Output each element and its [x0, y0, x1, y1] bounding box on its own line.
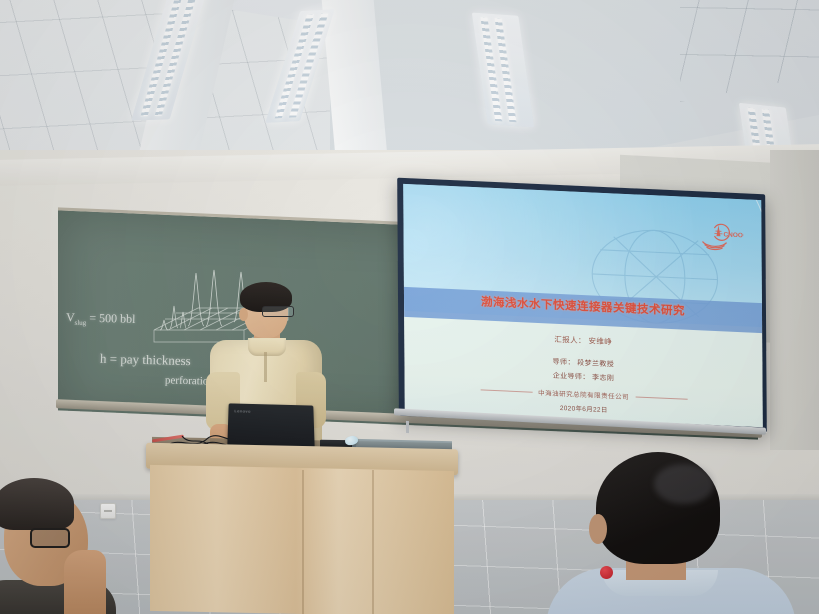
screen-pull-hook	[406, 421, 409, 433]
presenter-shirt-placket	[264, 352, 267, 382]
rule-right	[635, 396, 687, 399]
ceiling-tile-grid-right	[680, 0, 819, 102]
hair-highlight	[654, 464, 714, 504]
laptop[interactable]: Lenovo	[227, 403, 314, 449]
rule-left	[480, 389, 532, 392]
presenter-ear	[239, 308, 248, 321]
cnooc-logo-text: CNOOC	[724, 231, 744, 239]
laptop-brand-label: Lenovo	[234, 408, 251, 413]
audience-left-raised-hand	[64, 550, 106, 614]
lectern-seam-right	[372, 470, 374, 614]
presenter-collar	[248, 338, 286, 356]
audience-left-hair	[0, 478, 74, 530]
cnooc-logo-icon: CNOOC	[697, 220, 743, 252]
audience-right-ear	[589, 514, 607, 544]
chalk-formula-volume: Vslug = 500 bbl	[66, 310, 136, 328]
audience-right-hair	[596, 452, 720, 564]
audience-member-left	[0, 484, 136, 614]
presenter-glasses-icon	[262, 306, 294, 317]
red-badge-icon	[600, 566, 613, 579]
chalk-formula-thickness: h = pay thickness	[100, 351, 191, 369]
wall-column-right	[770, 150, 819, 450]
audience-member-right	[556, 452, 796, 614]
presentation-slide: CNOOC 渤海浅水水下快速连接器关键技术研究 汇报人： 安维峥 导师： 段梦兰…	[403, 184, 763, 427]
screen-frame: CNOOC 渤海浅水水下快速连接器关键技术研究 汇报人： 安维峥 导师： 段梦兰…	[397, 178, 767, 433]
audience-left-glasses-icon	[30, 528, 70, 548]
projection-screen[interactable]: CNOOC 渤海浅水水下快速连接器关键技术研究 汇报人： 安维峥 导师： 段梦兰…	[397, 178, 767, 433]
lectern-seam-left	[302, 470, 304, 614]
lecture-photo-scene: Vslug = 500 bbl h = pay thickness perfor…	[0, 0, 819, 614]
